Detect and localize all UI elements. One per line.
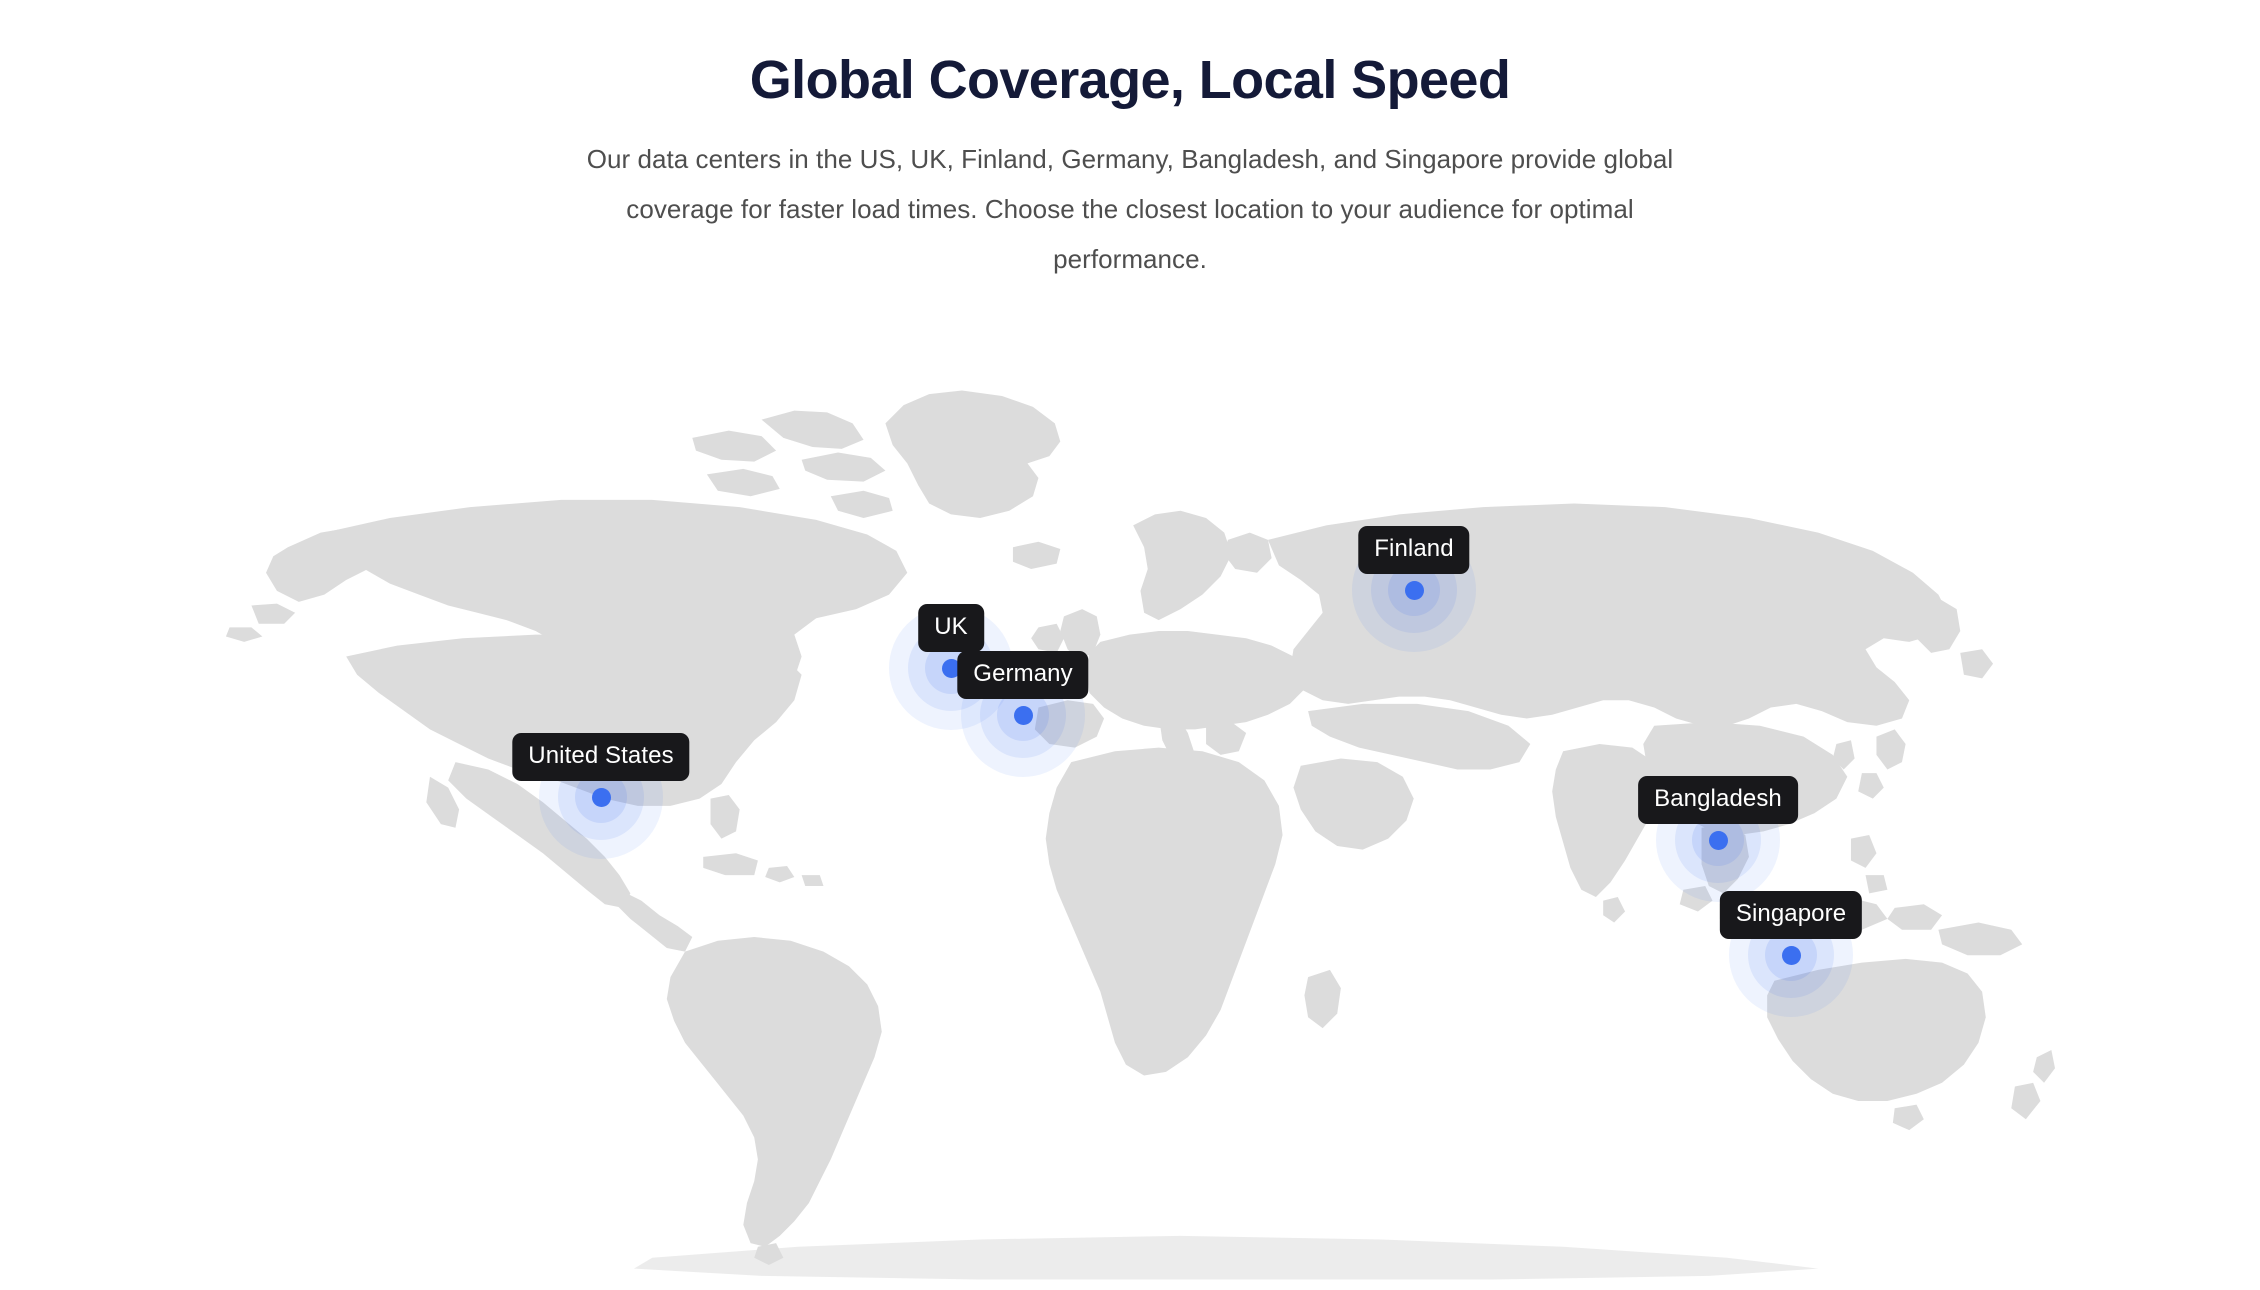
map-label-singapore[interactable]: Singapore	[1720, 891, 1862, 939]
section-header: Global Coverage, Local Speed Our data ce…	[0, 0, 2260, 284]
marker-dot	[1782, 946, 1801, 965]
marker-dot	[592, 788, 611, 807]
section-subtitle: Our data centers in the US, UK, Finland,…	[565, 134, 1695, 284]
map-label-uk[interactable]: UK	[918, 604, 984, 652]
map-label-bangladesh[interactable]: Bangladesh	[1638, 776, 1798, 824]
marker-dot	[1405, 581, 1424, 600]
map-label-finland[interactable]: Finland	[1358, 526, 1469, 574]
marker-dot	[1709, 831, 1728, 850]
map-label-germany[interactable]: Germany	[957, 651, 1088, 699]
page-title: Global Coverage, Local Speed	[0, 48, 2260, 112]
marker-dot	[1014, 706, 1033, 725]
world-map-container: United States UK Finland	[0, 330, 2260, 1290]
map-label-united-states[interactable]: United States	[512, 733, 689, 781]
datacenter-coverage-section: Global Coverage, Local Speed Our data ce…	[0, 0, 2260, 1290]
world-map-inner: United States UK Finland	[215, 350, 2055, 1280]
